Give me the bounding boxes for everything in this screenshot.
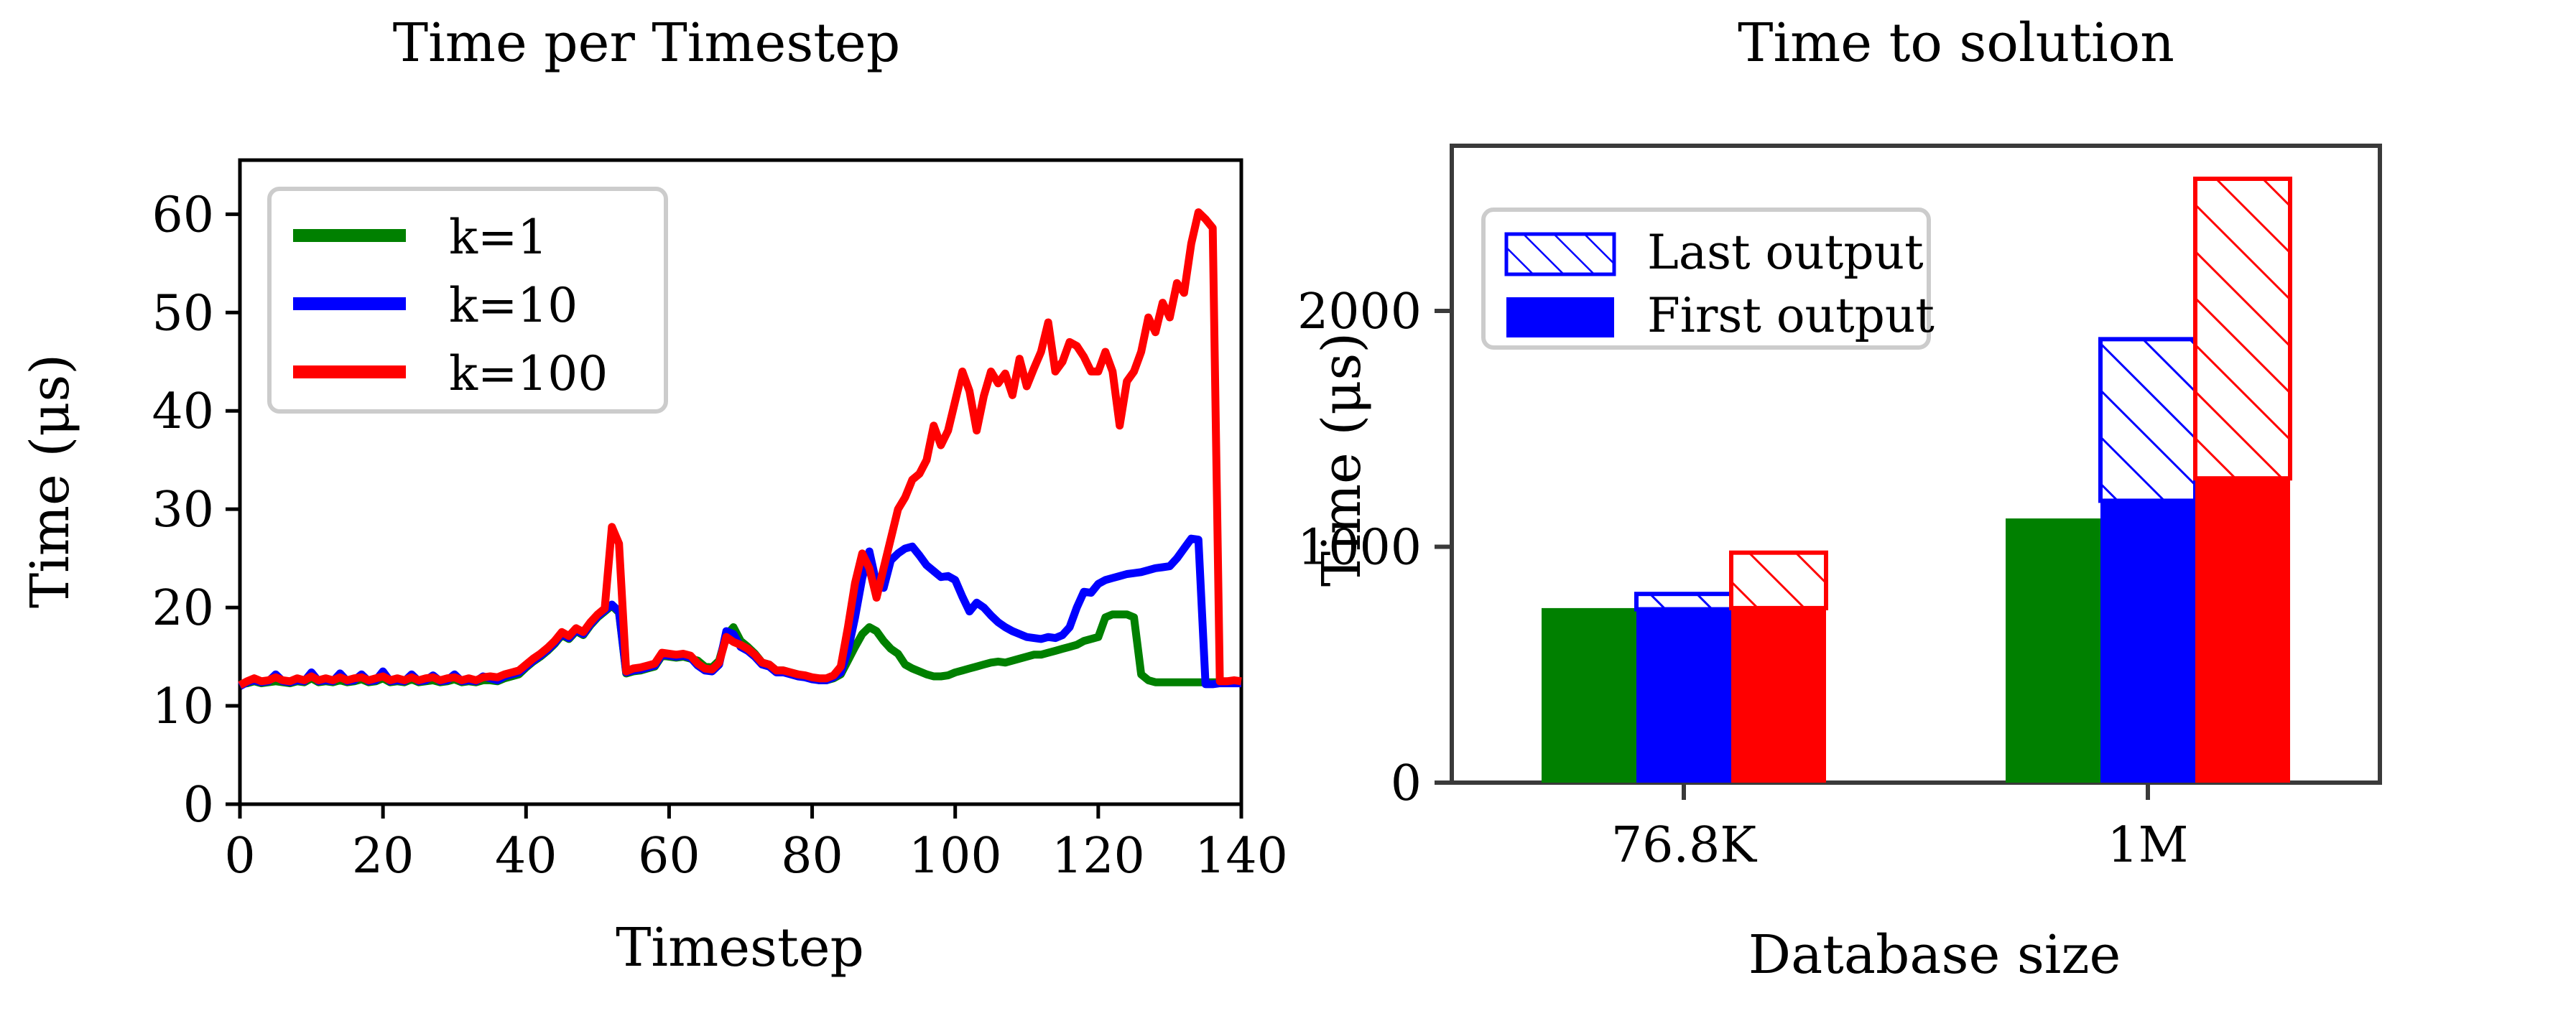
y-tick-label: 0 [183, 777, 214, 834]
y-tick-label: 40 [152, 383, 214, 440]
x-tick-label: 80 [781, 828, 843, 885]
x-tick-label: 60 [638, 828, 700, 885]
right-xaxis-label: Database size [1748, 924, 2121, 986]
legend-label-last-output: Last output [1647, 225, 1924, 280]
y-tick-label: 0 [1391, 755, 1422, 812]
x-tick-label: 20 [352, 828, 414, 885]
left-chart-title: Time per Timestep [393, 12, 900, 74]
panel-time-per-timestep: Time per Timestep Timestep Time (μs) 020… [0, 0, 1288, 1016]
legend-label-k-10: k=10 [449, 278, 578, 333]
x-tick-label: 0 [224, 828, 255, 885]
y-tick-label: 1000 [1297, 519, 1422, 576]
x-tick-label: 1M [2108, 817, 2189, 874]
y-tick-label: 50 [152, 285, 214, 342]
figure-canvas: Time per Timestep Timestep Time (μs) 020… [0, 0, 2576, 1016]
y-tick-label: 10 [152, 679, 214, 735]
x-tick-label: 140 [1195, 828, 1288, 885]
bar-last-output-1M-k-10 [2100, 339, 2195, 500]
bar-first-output-76.8K-k-10 [1636, 610, 1731, 783]
bar-first-output-76.8K-k-1 [1542, 608, 1636, 783]
bar-last-output-76.8K-k-10 [1636, 594, 1731, 609]
legend-label-first-output: First output [1647, 288, 1935, 343]
x-tick-label: 120 [1052, 828, 1145, 885]
y-tick-label: 20 [152, 580, 214, 637]
line-chart-svg: Time per Timestep Timestep Time (μs) 020… [0, 0, 1288, 1016]
y-tick-label: 30 [152, 482, 214, 539]
left-yaxis-label: Time (μs) [19, 354, 81, 608]
x-tick-label: 76.8K [1611, 817, 1757, 874]
bar-last-output-1M-k-100 [2195, 179, 2290, 478]
legend-swatch-last-output [1506, 234, 1614, 274]
bar-first-output-1M-k-100 [2195, 478, 2290, 783]
x-tick-label: 100 [909, 828, 1002, 885]
left-plot-area: 0204060801001201400102030405060k=1k=10k=… [152, 160, 1287, 885]
x-tick-label: 40 [495, 828, 557, 885]
bar-chart-svg: Time to solution Database size Time (μs)… [1288, 0, 2576, 1016]
legend-swatch-first-output [1506, 297, 1614, 337]
right-plot-area: 01000200076.8K1MLast outputFirst output [1297, 146, 2380, 874]
bar-first-output-76.8K-k-100 [1731, 608, 1826, 783]
bar-first-output-1M-k-1 [2006, 518, 2100, 783]
legend-label-k-100: k=100 [449, 346, 608, 401]
panel-time-to-solution: Time to solution Database size Time (μs)… [1288, 0, 2576, 1016]
bar-first-output-1M-k-10 [2100, 500, 2195, 783]
y-tick-label: 60 [152, 187, 214, 243]
bar-last-output-76.8K-k-100 [1731, 553, 1826, 608]
legend-label-k-1: k=1 [449, 210, 547, 265]
y-tick-label: 2000 [1297, 284, 1422, 340]
right-chart-title: Time to solution [1738, 12, 2174, 74]
series-line-k-10 [240, 539, 1241, 686]
left-xaxis-label: Timestep [616, 917, 864, 979]
